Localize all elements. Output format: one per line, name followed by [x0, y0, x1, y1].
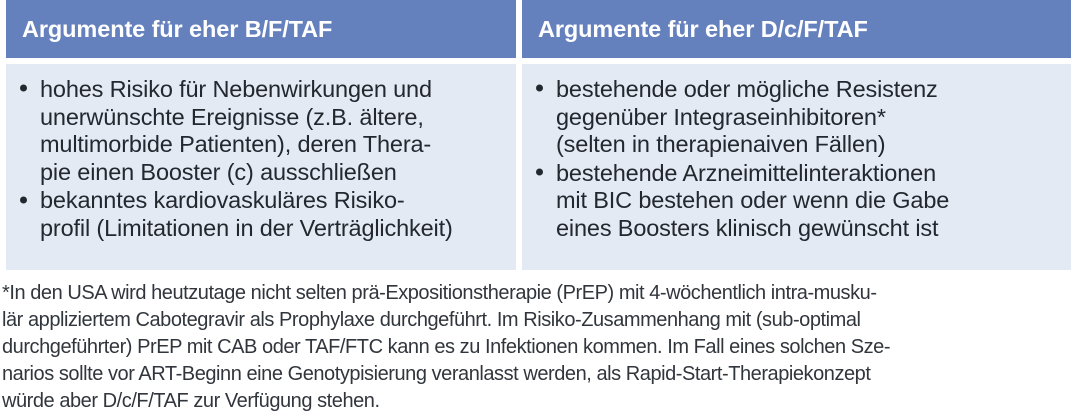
list-item-line: bekanntes kardiovaskuläres Risiko-	[40, 187, 510, 215]
footnote-line: narios sollte vor ART-Beginn eine Genoty…	[2, 361, 1075, 388]
list-item-line: unerwünschte Ereignisse (z.B. ältere,	[40, 104, 510, 132]
bullet-dot-icon	[536, 169, 543, 176]
table-header-row: Argumente für eher B/F/TAF Argumente für…	[0, 0, 1075, 58]
footnote-line: durchgeführter) PrEP mit CAB oder TAF/FT…	[2, 334, 1075, 361]
footnote: *In den USA wird heutzutage nicht selten…	[2, 280, 1075, 415]
list-item: bestehende oder mögliche Resistenz gegen…	[532, 76, 1065, 159]
column-header-right: Argumente für eher D/c/F/TAF	[522, 0, 1071, 58]
column-body-left: hohes Risiko für Nebenwirkungen und uner…	[6, 64, 516, 270]
bullet-dot-icon	[20, 196, 27, 203]
bullet-list-right: bestehende oder mögliche Resistenz gegen…	[532, 76, 1065, 243]
list-item-line: pie einen Booster (c) ausschließen	[40, 159, 510, 187]
column-body-right: bestehende oder mögliche Resistenz gegen…	[522, 64, 1071, 270]
list-item-line: hohes Risiko für Nebenwirkungen und	[40, 76, 510, 104]
list-item-line: mit BIC bestehen oder wenn die Gabe	[556, 187, 1065, 215]
list-item-line: (selten in therapienaiven Fällen)	[556, 131, 1065, 159]
footnote-line: *In den USA wird heutzutage nicht selten…	[2, 280, 1075, 307]
list-item: bestehende Arzneimittelinteraktionen mit…	[532, 160, 1065, 243]
list-item-line: profil (Limitationen in der Verträglichk…	[40, 215, 510, 243]
list-item-line: bestehende Arzneimittelinteraktionen	[556, 160, 1065, 188]
list-item-line: multimorbide Patienten), deren Thera-	[40, 131, 510, 159]
bullet-dot-icon	[536, 85, 543, 92]
bullet-dot-icon	[20, 85, 27, 92]
list-item-line: eines Boosters klinisch gewünscht ist	[556, 215, 1065, 243]
footnote-line: lär appliziertem Cabotegravir als Prophy…	[2, 307, 1075, 334]
list-item: hohes Risiko für Nebenwirkungen und uner…	[16, 76, 510, 186]
table-body-row: hohes Risiko für Nebenwirkungen und uner…	[0, 64, 1075, 270]
column-header-left: Argumente für eher B/F/TAF	[6, 0, 516, 58]
footnote-line: würde aber D/c/F/TAF zur Verfügung stehe…	[2, 388, 1075, 415]
list-item-line: bestehende oder mögliche Resistenz	[556, 76, 1065, 104]
comparison-table: Argumente für eher B/F/TAF Argumente für…	[0, 0, 1075, 270]
list-item-line: gegenüber Integraseinhibitoren*	[556, 104, 1065, 132]
slide-root: Argumente für eher B/F/TAF Argumente für…	[0, 0, 1075, 418]
bullet-list-left: hohes Risiko für Nebenwirkungen und uner…	[16, 76, 510, 243]
list-item: bekanntes kardiovaskuläres Risiko- profi…	[16, 187, 510, 242]
